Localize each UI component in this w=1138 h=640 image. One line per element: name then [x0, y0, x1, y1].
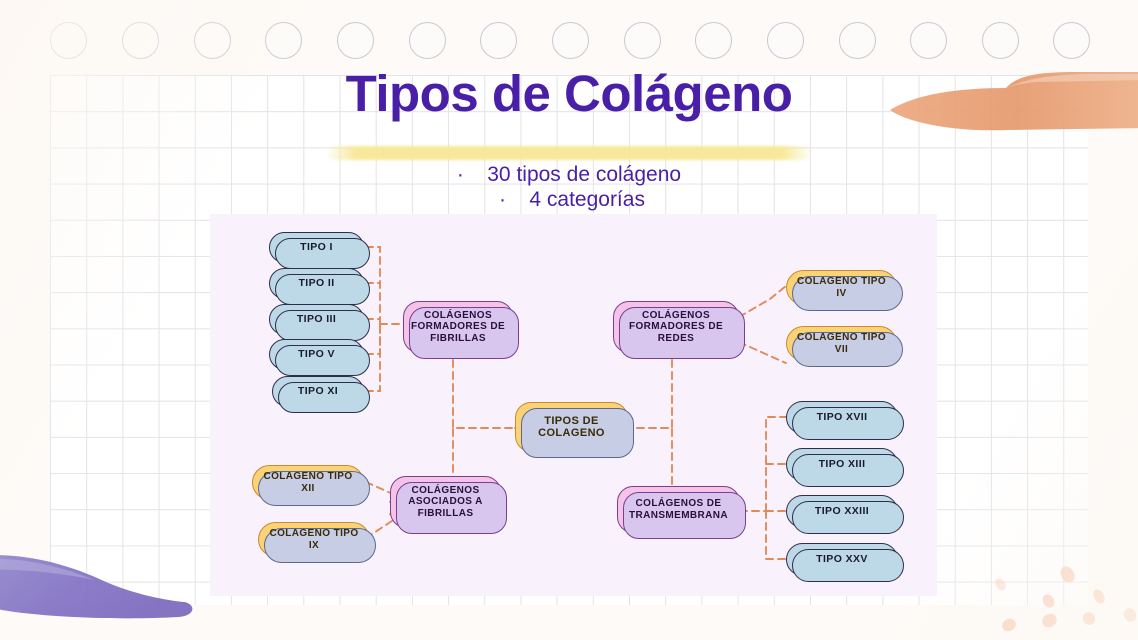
- binder-holes-row: [0, 0, 1138, 75]
- node-tipo-xxiii[interactable]: TIPO XXIII: [786, 495, 898, 528]
- node-tipo-xi[interactable]: TIPO XI: [272, 376, 364, 407]
- category-label: COLÁGENOS FORMADORES DE REDES: [620, 310, 732, 344]
- node-label: TIPO V: [298, 349, 335, 361]
- binder-hole: [552, 22, 589, 59]
- binder-hole: [767, 22, 804, 59]
- node-label: TIPO III: [297, 314, 336, 326]
- binder-hole: [265, 22, 302, 59]
- category-colagenos-formadores-de-redes[interactable]: COLÁGENOS FORMADORES DE REDES: [613, 301, 739, 353]
- node-colageno-tipo-xii[interactable]: COLAGENO TIPO XII: [252, 465, 364, 500]
- node-label: COLAGENO TIPO IV: [793, 276, 890, 298]
- confetti-dot: [1000, 616, 1018, 633]
- node-tipo-ii[interactable]: TIPO II: [269, 268, 364, 299]
- node-label: COLAGENO TIPO XII: [259, 471, 357, 493]
- confetti-dot: [1091, 588, 1107, 606]
- category-label: COLÁGENOS ASOCIADOS A FIBRILLAS: [397, 485, 494, 519]
- node-label: COLAGENO TIPO VII: [793, 332, 890, 354]
- binder-hole: [982, 22, 1019, 59]
- node-label: TIPO II: [298, 278, 334, 290]
- subtitle-line-1: · 30 tipos de colágeno: [0, 163, 1138, 186]
- node-tipo-iii[interactable]: TIPO III: [269, 304, 364, 335]
- binder-hole: [409, 22, 446, 59]
- title-highlighter-underline: [326, 146, 812, 160]
- collagen-mindmap-panel: TIPO I TIPO II TIPO III TIPO V TIPO XI C…: [210, 214, 937, 596]
- category-colagenos-de-transmembrana[interactable]: COLÁGENOS DE TRANSMEMBRANA: [617, 486, 740, 533]
- node-colageno-tipo-vii[interactable]: COLAGENO TIPO VII: [786, 326, 897, 361]
- node-tipo-xvii[interactable]: TIPO XVII: [786, 401, 898, 434]
- subtitle-block: · 30 tipos de colágeno · 4 categorías: [0, 163, 1138, 211]
- binder-hole: [122, 22, 159, 59]
- node-tipo-i[interactable]: TIPO I: [269, 232, 364, 263]
- category-label: COLÁGENOS DE TRANSMEMBRANA: [624, 498, 733, 520]
- confetti-dot: [1040, 611, 1060, 630]
- node-tipo-xxv[interactable]: TIPO XXV: [786, 543, 898, 576]
- node-colageno-tipo-iv[interactable]: COLAGENO TIPO IV: [786, 270, 897, 305]
- node-label: TIPO XVII: [817, 412, 868, 424]
- node-label: TIPO I: [300, 242, 333, 254]
- subtitle-line-2: · 4 categorías: [0, 188, 1138, 211]
- category-label: COLÁGENOS FORMADORES DE FIBRILLAS: [410, 310, 506, 344]
- node-label: COLAGENO TIPO IX: [265, 528, 363, 550]
- confetti-dot: [1121, 606, 1138, 624]
- node-label: TIPO XXV: [816, 554, 868, 566]
- binder-hole: [839, 22, 876, 59]
- binder-hole: [695, 22, 732, 59]
- binder-hole: [194, 22, 231, 59]
- category-colagenos-asociados-a-fibrillas[interactable]: COLÁGENOS ASOCIADOS A FIBRILLAS: [390, 476, 501, 528]
- node-label: TIPO XXIII: [815, 506, 869, 518]
- binder-hole: [337, 22, 374, 59]
- binder-hole: [50, 22, 87, 59]
- center-node-label: TIPOS DE COLAGENO: [522, 415, 621, 440]
- confetti-dot: [1081, 610, 1098, 627]
- binder-hole: [624, 22, 661, 59]
- binder-hole: [910, 22, 947, 59]
- node-label: TIPO XIII: [819, 459, 866, 471]
- page-title: Tipos de Colágeno: [0, 66, 1138, 122]
- center-node-tipos-de-colageno[interactable]: TIPOS DE COLAGENO: [515, 402, 628, 452]
- node-colageno-tipo-ix[interactable]: COLAGENO TIPO IX: [258, 522, 370, 557]
- node-label: TIPO XI: [298, 386, 338, 398]
- category-colagenos-formadores-de-fibrillas[interactable]: COLÁGENOS FORMADORES DE FIBRILLAS: [403, 301, 513, 353]
- slide-canvas: Tipos de Colágeno · 30 tipos de colágeno…: [0, 0, 1138, 640]
- node-tipo-xiii[interactable]: TIPO XIII: [786, 448, 898, 481]
- binder-hole: [480, 22, 517, 59]
- node-tipo-v[interactable]: TIPO V: [269, 339, 364, 370]
- binder-hole: [1053, 22, 1090, 59]
